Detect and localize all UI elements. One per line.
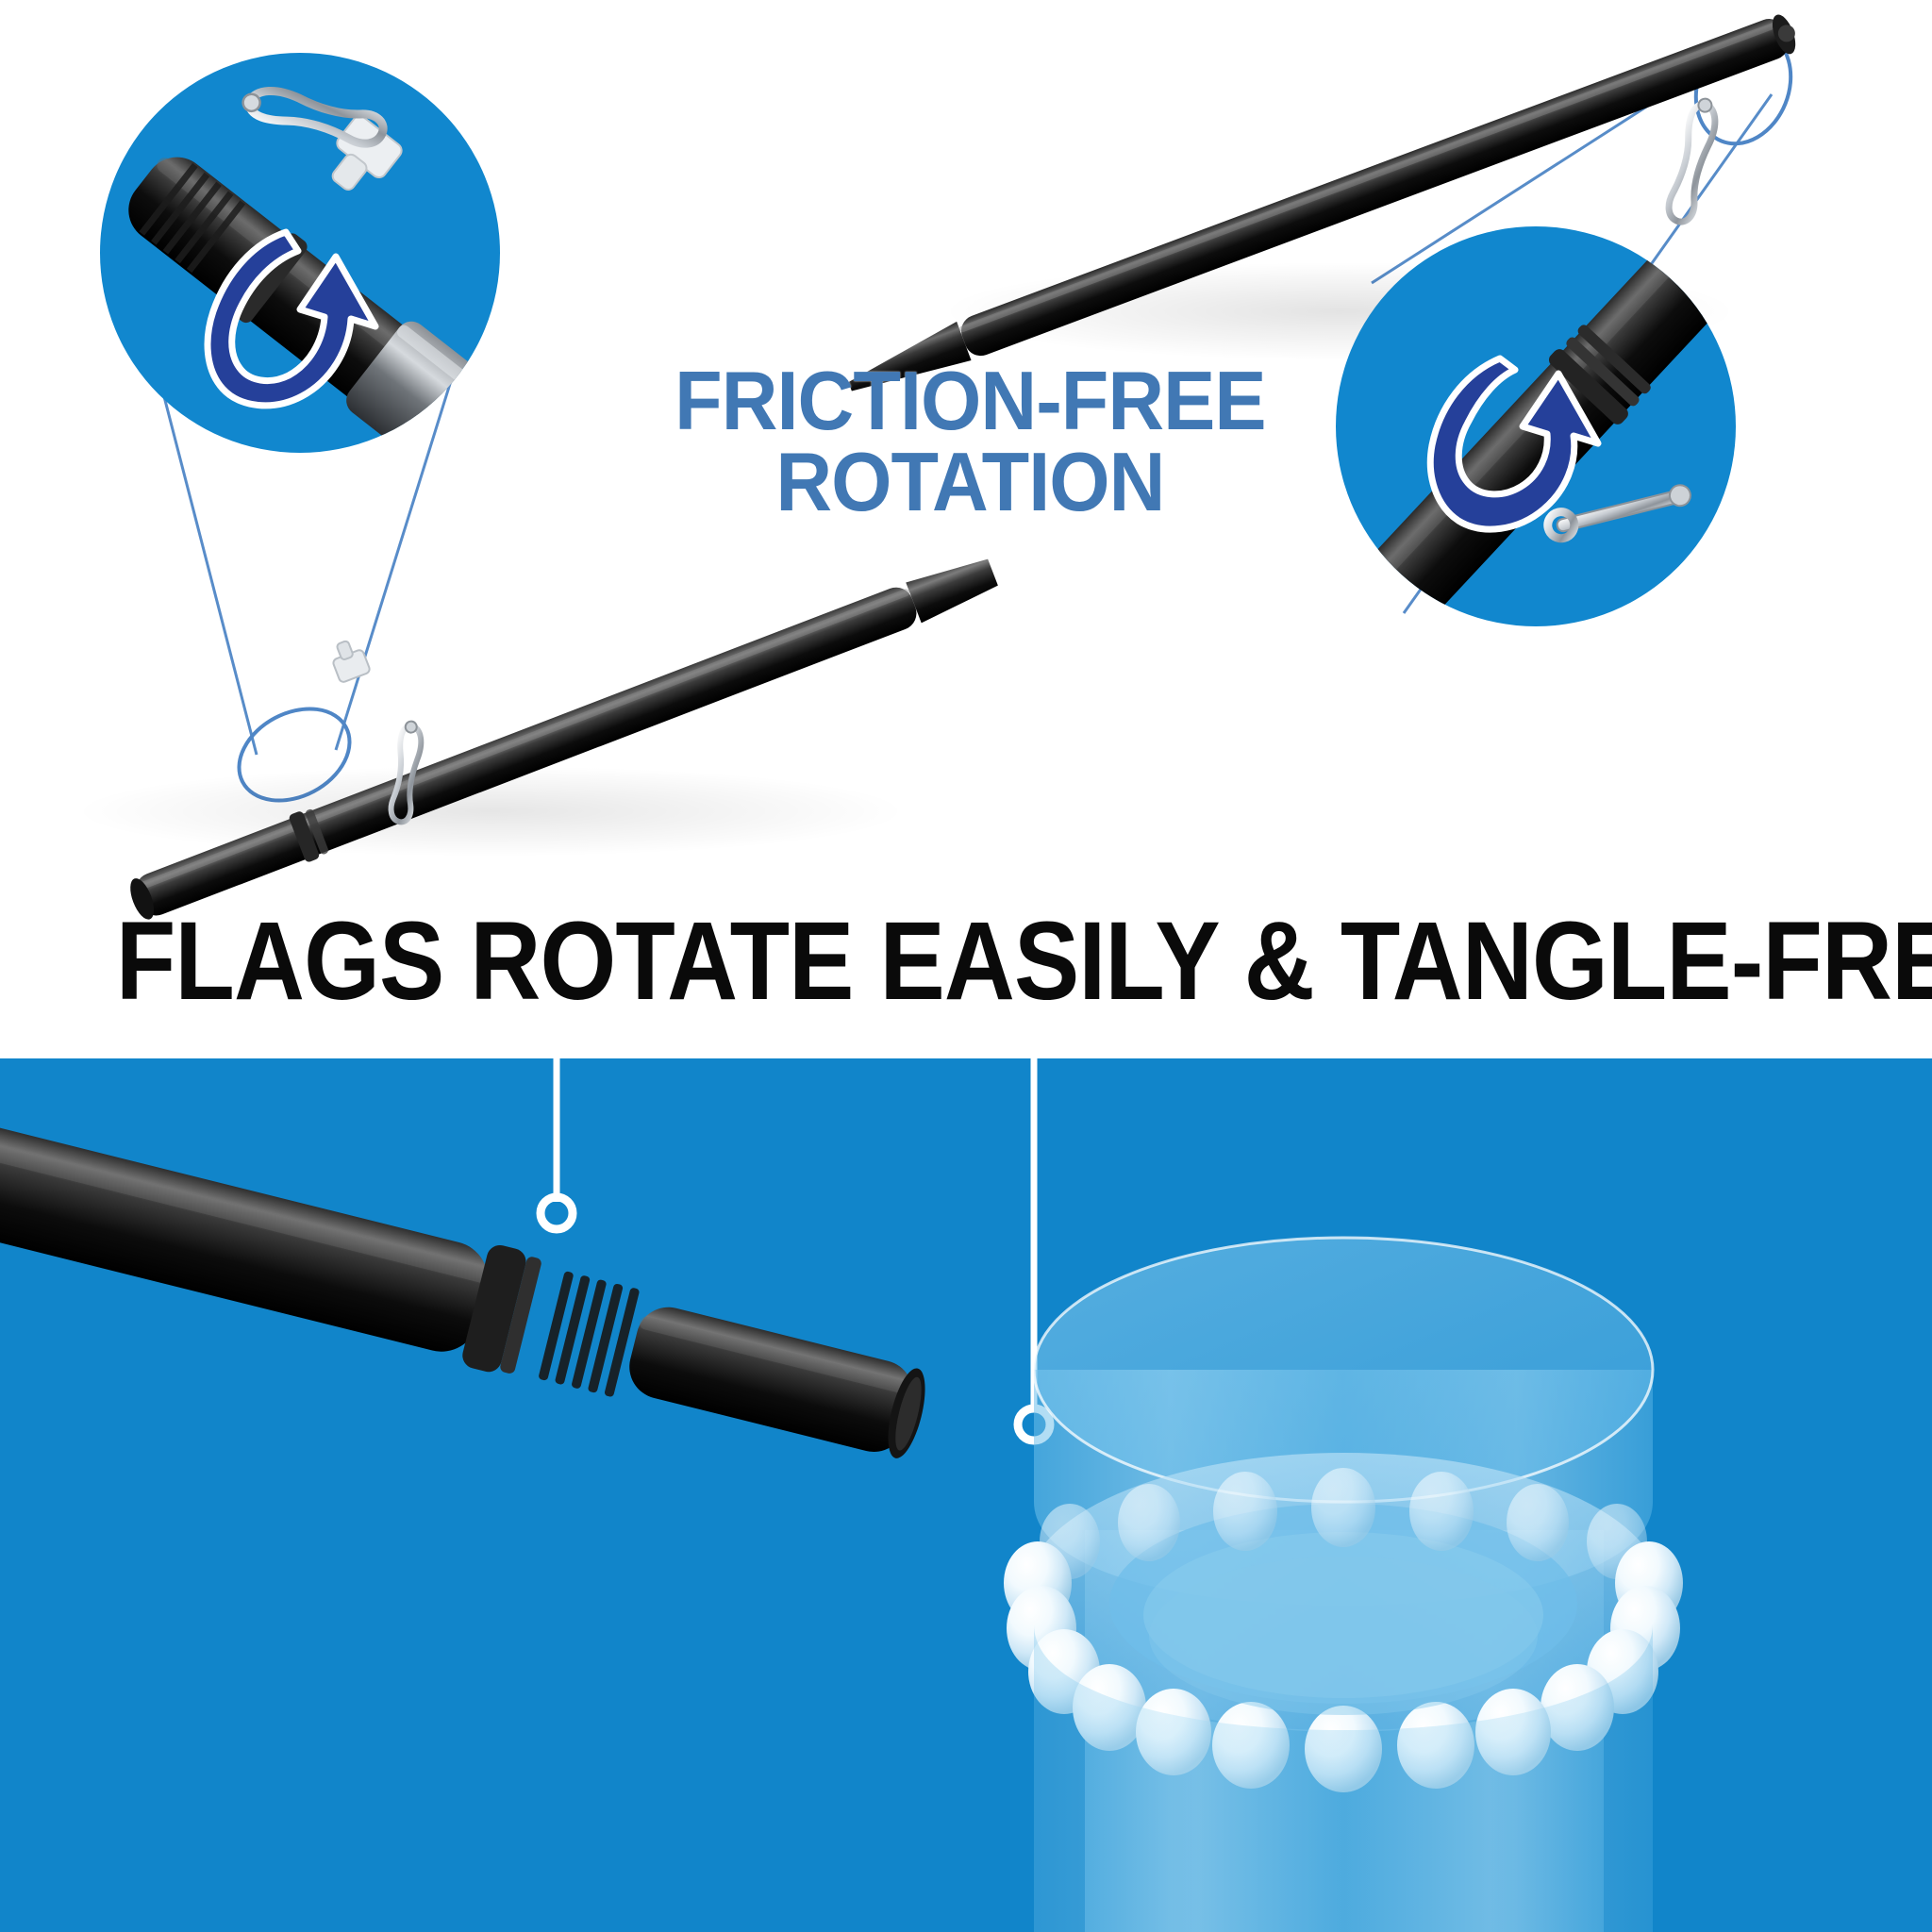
callout-left [100, 53, 565, 525]
friction-label-line1: FRICTION-FREE [651, 360, 1290, 441]
mounting-ring-cylinder [1004, 1238, 1683, 1932]
ball-bearing-panel: BALL BEARINGS IN THE MOUNTING RINGS PROV… [0, 1058, 1932, 1932]
leader-endpoint-pole-marker [541, 1197, 573, 1229]
friction-label-line2: ROTATION [651, 441, 1290, 523]
page-headline: FLAGS ROTATE EASILY & TANGLE-FREE [116, 906, 1816, 1017]
mounting-ring-lower [327, 637, 371, 684]
friction-free-rotation-label: FRICTION-FREE ROTATION [651, 360, 1290, 523]
bottom-flagpole [0, 1058, 937, 1476]
infographic-root: FRICTION-FREE ROTATION FLAGS ROTATE EASI… [0, 0, 1932, 1932]
snap-clip-upper [1666, 96, 1720, 225]
pole-lower-left [75, 548, 1002, 925]
bottom-illustration [0, 1058, 1932, 1932]
